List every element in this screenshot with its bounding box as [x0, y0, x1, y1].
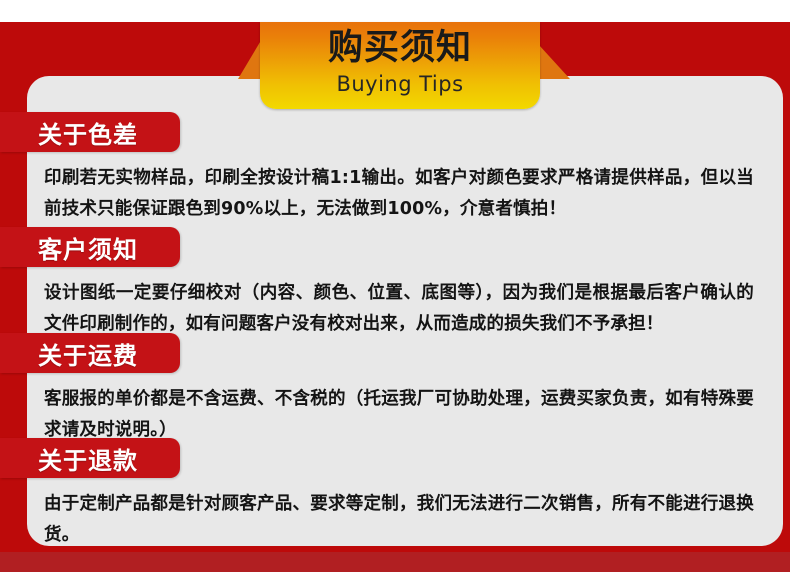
section-body-text: 客服报的单价都是不含运费、不含税的（托运我厂可协助处理，运费买家负责，如有特殊要… — [44, 384, 754, 446]
section-label-pill: 关于退款 — [0, 438, 180, 478]
section-body-text: 由于定制产品都是针对顾客产品、要求等定制，我们无法进行二次销售，所有不能进行退换… — [44, 489, 754, 551]
section-label-text: 客户须知 — [38, 230, 138, 265]
section-label-pill: 关于色差 — [0, 112, 180, 152]
banner-title-chinese: 购买须知 — [260, 22, 540, 70]
section-refund: 关于退款 由于定制产品都是针对顾客产品、要求等定制，我们无法进行二次销售，所有不… — [0, 438, 790, 551]
section-body-text: 设计图纸一定要仔细校对（内容、颜色、位置、底图等），因为我们是根据最后客户确认的… — [44, 278, 754, 340]
section-color-difference: 关于色差 印刷若无实物样品，印刷全按设计稿1:1输出。如客户对颜色要求严格请提供… — [0, 112, 790, 225]
section-label-text: 关于退款 — [38, 441, 138, 476]
banner-tab: 购买须知 Buying Tips — [260, 22, 540, 109]
bottom-accent-strip — [0, 552, 790, 572]
section-customer-notice: 客户须知 设计图纸一定要仔细校对（内容、颜色、位置、底图等），因为我们是根据最后… — [0, 227, 790, 340]
section-label-pill: 关于运费 — [0, 333, 180, 373]
section-label-pill: 客户须知 — [0, 227, 180, 267]
section-shipping-fee: 关于运费 客服报的单价都是不含运费、不含税的（托运我厂可协助处理，运费买家负责，… — [0, 333, 790, 446]
buying-tips-page: 购买须知 Buying Tips 关于色差 印刷若无实物样品，印刷全按设计稿1:… — [0, 0, 790, 572]
section-label-text: 关于色差 — [38, 115, 138, 150]
section-body-text: 印刷若无实物样品，印刷全按设计稿1:1输出。如客户对颜色要求严格请提供样品，但以… — [44, 163, 754, 225]
section-label-text: 关于运费 — [38, 336, 138, 371]
banner-title-english: Buying Tips — [260, 70, 540, 98]
